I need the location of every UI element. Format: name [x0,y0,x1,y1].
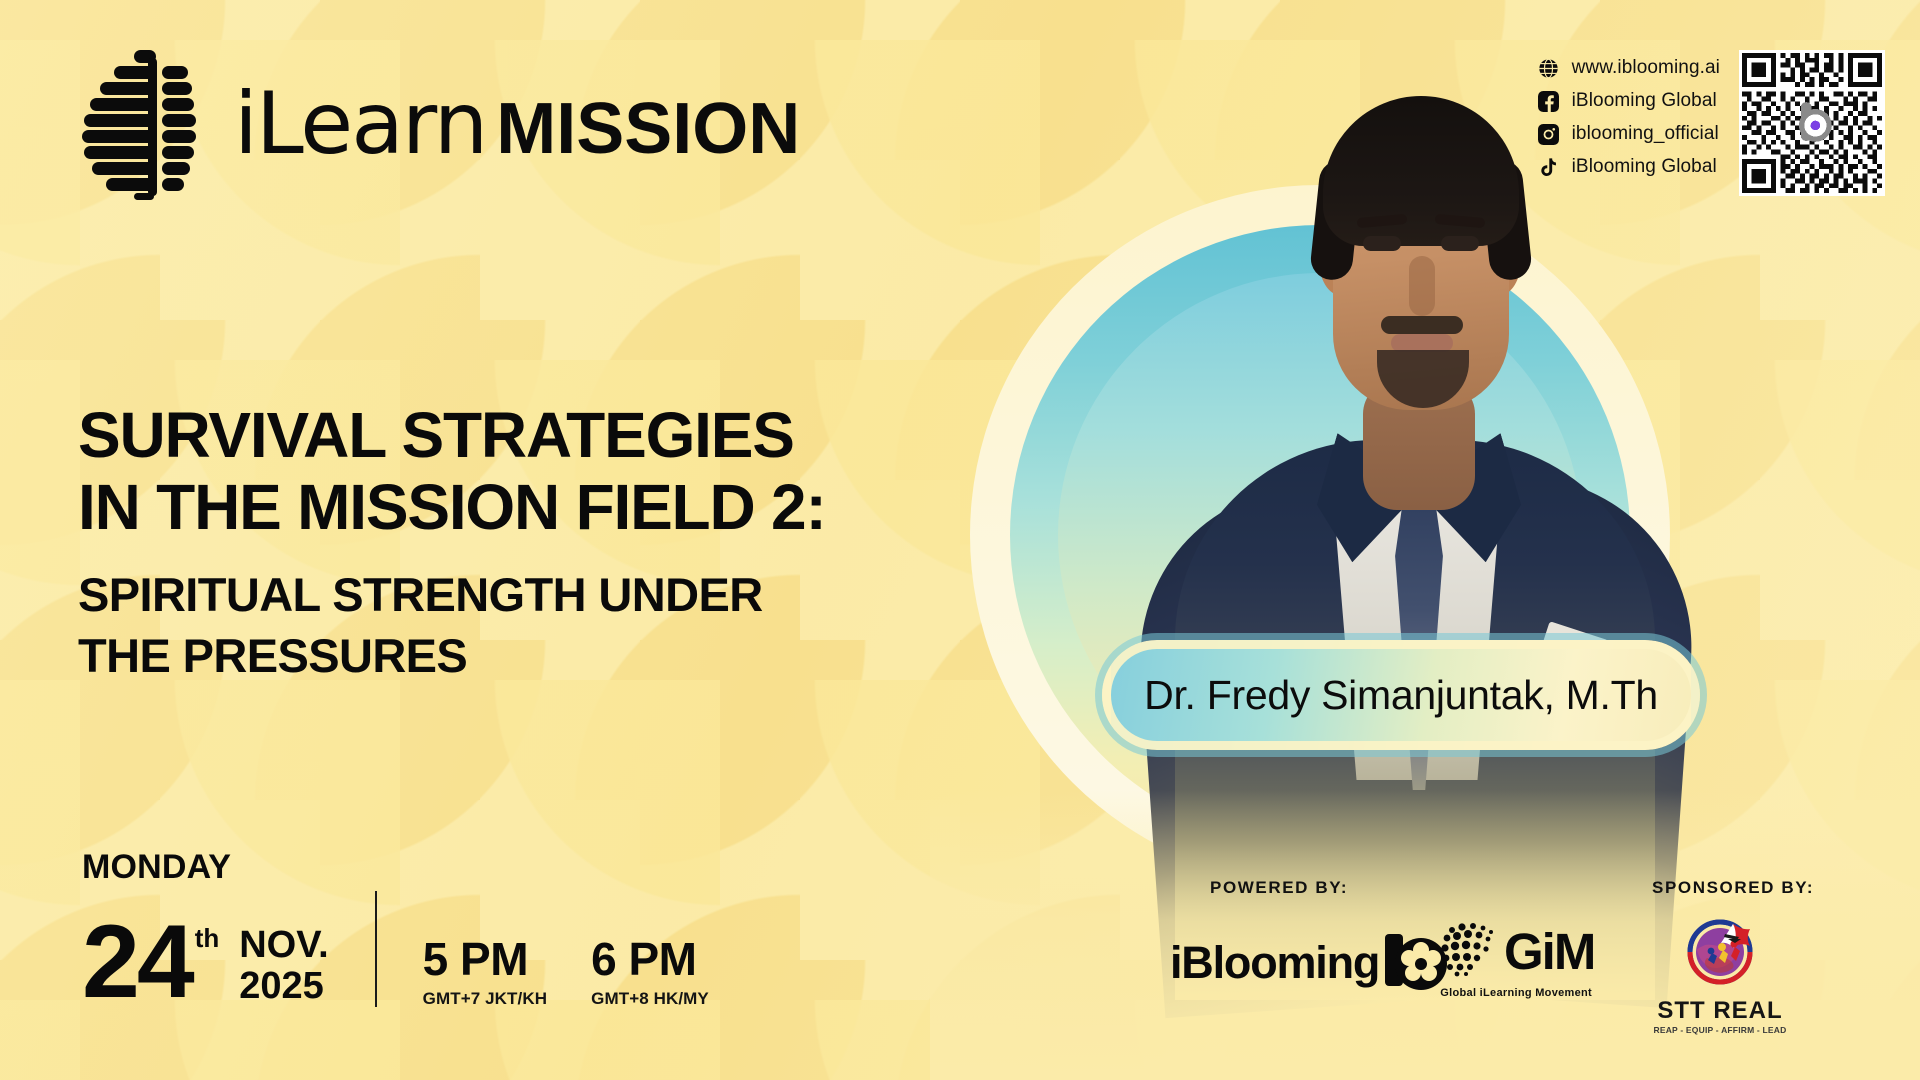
iblooming-logo: iBlooming [1170,924,1453,1001]
gim-wordmark: GiM [1504,922,1594,981]
title-line-2: IN THE MISSION FIELD 2: [78,472,826,544]
social-label-instagram: iblooming_official [1572,123,1719,145]
schedule-month: NOV. [239,925,328,966]
qr-code[interactable] [1739,50,1885,196]
title-line-4: THE PRESSURES [78,626,826,686]
speaker-name: Dr. Fredy Simanjuntak, M.Th [1144,672,1658,719]
speaker-name-badge: Dr. Fredy Simanjuntak, M.Th [1102,640,1700,750]
schedule-weekday: MONDAY [82,848,709,887]
title-line-1: SURVIVAL STRATEGIES [78,400,826,472]
gim-globe-icon [1438,918,1500,985]
schedule-time-1-value: 5 PM [423,935,547,983]
title-line-3: SPIRITUAL STRENGTH UNDER [78,565,826,625]
powered-by-label: POWERED BY: [1210,878,1348,898]
stt-real-wordmark: STT REAL [1650,997,1790,1025]
schedule-month-year: NOV. 2025 [239,925,328,1011]
schedule-divider [375,891,377,1007]
logo-word-ilearn: iLearn [234,74,486,174]
sponsored-by-label: SPONSORED BY: [1652,878,1814,898]
schedule-times: 5 PM GMT+7 JKT/KH 6 PM GMT+8 HK/MY [423,935,709,1011]
event-schedule: MONDAY 24 th NOV. 2025 5 PM GMT+7 JKT/KH… [82,848,709,1011]
tiktok-icon [1538,157,1559,178]
partners-strip: POWERED BY: SPONSORED BY: iBlooming [1180,878,1880,1053]
schedule-day-suffix: th [195,923,220,954]
social-label-website: www.iblooming.ai [1572,57,1720,79]
social-row-website[interactable]: www.iblooming.ai [1538,56,1720,80]
iblooming-wordmark: iBlooming [1170,937,1379,989]
gim-tagline: Global iLearning Movement [1438,987,1594,999]
globe-icon [1538,58,1559,79]
schedule-time-1-zone: GMT+7 JKT/KH [423,989,547,1009]
schedule-day: 24 [82,915,192,1011]
schedule-year: 2025 [239,966,328,1007]
social-row-facebook[interactable]: iBlooming Global [1538,89,1720,113]
schedule-time-2-value: 6 PM [591,935,709,983]
stt-real-tagline: REAP - EQUIP - AFFIRM - LEAD [1650,1025,1790,1035]
instagram-icon [1538,124,1559,145]
social-label-facebook: iBlooming Global [1572,90,1717,112]
gim-logo: GiM Global iLearning Movement [1438,918,1594,999]
page-title: iLearnMISSION [234,81,800,167]
event-poster: iLearnMISSION www.iblooming.ai iBlooming… [0,0,1920,1080]
facebook-icon [1538,91,1559,112]
ilearn-bars-icon [78,48,208,200]
stt-real-emblem-icon [1681,977,1759,994]
schedule-time-1: 5 PM GMT+7 JKT/KH [423,935,547,1009]
stt-real-logo: STT REAL REAP - EQUIP - AFFIRM - LEAD [1650,912,1790,1035]
logo-word-mission: MISSION [496,89,800,169]
schedule-day-group: 24 th [82,915,219,1011]
social-row-instagram[interactable]: iblooming_official [1538,122,1720,146]
schedule-time-2: 6 PM GMT+8 HK/MY [591,935,709,1009]
event-title: SURVIVAL STRATEGIES IN THE MISSION FIELD… [78,400,826,686]
social-label-tiktok: iBlooming Global [1572,156,1717,178]
social-links: www.iblooming.ai iBlooming Global ibloom… [1538,56,1720,179]
social-row-tiktok[interactable]: iBlooming Global [1538,155,1720,179]
brand-header: iLearnMISSION [78,48,800,200]
schedule-time-2-zone: GMT+8 HK/MY [591,989,709,1009]
